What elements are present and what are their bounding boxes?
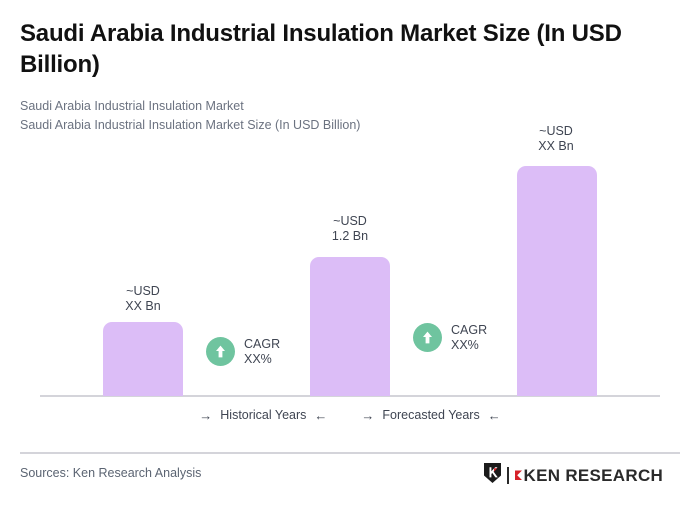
cagr-text-1: CAGR XX%	[244, 337, 280, 366]
cagr-annotation-2: CAGR XX%	[413, 323, 487, 352]
arrow-right-icon: →	[199, 409, 212, 422]
period-legend: → Historical Years ← → Forecasted Years …	[40, 408, 660, 422]
ken-research-shield-icon	[483, 462, 502, 489]
bar-label-1: ~USD XX Bn	[83, 284, 203, 313]
arrow-right-icon: →	[361, 409, 374, 422]
brand-wordmark: KEN RESEARCH	[514, 467, 664, 484]
chart-plot-area: ~USD XX Bn ~USD 1.2 Bn ~USD XX Bn CAGR X…	[0, 0, 700, 440]
bar-label-3-currency: ~USD	[496, 124, 616, 139]
cagr-label-2: CAGR	[451, 323, 487, 337]
period-forecasted-label: Forecasted Years	[382, 408, 479, 422]
cagr-text-2: CAGR XX%	[451, 323, 487, 352]
period-historical: → Historical Years ←	[199, 408, 327, 422]
arrow-up-icon	[206, 337, 235, 366]
arrow-left-icon: ←	[488, 409, 501, 422]
ken-research-logo: KEN RESEARCH	[483, 462, 663, 489]
bar-label-2-value: 1.2 Bn	[290, 229, 410, 244]
bar-label-3-value: XX Bn	[496, 139, 616, 154]
arrow-left-icon: ←	[314, 409, 327, 422]
bar-historical-2	[310, 257, 390, 396]
bar-label-3: ~USD XX Bn	[496, 124, 616, 153]
period-historical-label: Historical Years	[220, 408, 306, 422]
sources-text: Sources: Ken Research Analysis	[20, 466, 201, 480]
cagr-label-1: CAGR	[244, 337, 280, 351]
bar-historical-1	[103, 322, 183, 396]
cagr-value-1: XX%	[244, 352, 272, 366]
bar-label-2: ~USD 1.2 Bn	[290, 214, 410, 243]
bar-label-1-value: XX Bn	[83, 299, 203, 314]
brand-name: KEN RESEARCH	[524, 467, 664, 484]
footer-divider	[20, 452, 680, 454]
chart-page: Saudi Arabia Industrial Insulation Marke…	[0, 0, 700, 520]
bar-label-2-currency: ~USD	[290, 214, 410, 229]
period-forecasted: → Forecasted Years ←	[361, 408, 500, 422]
bar-forecast-1	[517, 166, 597, 396]
cagr-value-2: XX%	[451, 338, 479, 352]
logo-divider	[507, 467, 509, 484]
cagr-annotation-1: CAGR XX%	[206, 337, 280, 366]
arrow-up-icon	[413, 323, 442, 352]
brand-accent-icon	[514, 470, 523, 481]
bar-label-1-currency: ~USD	[83, 284, 203, 299]
